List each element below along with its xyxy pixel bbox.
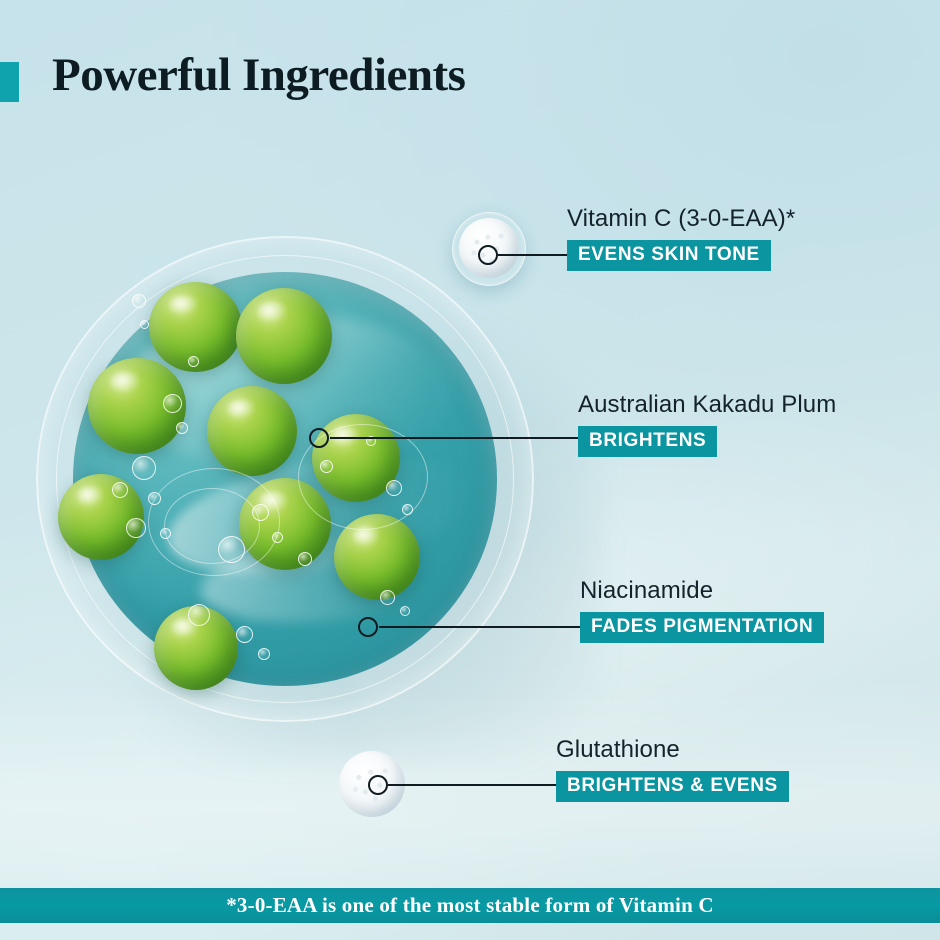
water-bubble bbox=[188, 604, 210, 626]
callout-vitamin-c: Vitamin C (3-0-EAA)* EVENS SKIN TONE bbox=[567, 205, 795, 271]
callout-glutathione: Glutathione BRIGHTENS & EVENS bbox=[556, 736, 789, 802]
leader-line-niacinamide bbox=[379, 626, 582, 628]
marker-kakadu-plum[interactable] bbox=[309, 428, 329, 448]
ingredient-name: Niacinamide bbox=[580, 577, 824, 605]
leader-line-glutathione bbox=[388, 784, 558, 786]
water-bubble bbox=[188, 356, 199, 367]
footer-banner: *3-0-EAA is one of the most stable form … bbox=[0, 888, 940, 923]
grape bbox=[236, 288, 332, 384]
petri-dish bbox=[36, 236, 534, 722]
leader-line-kakadu-plum bbox=[330, 437, 580, 439]
water-bubble bbox=[298, 552, 312, 566]
grape bbox=[58, 474, 144, 560]
water-bubble bbox=[380, 590, 395, 605]
water-ripple bbox=[164, 488, 260, 564]
ingredients-infographic: Powerful Ingredients bbox=[0, 0, 940, 940]
ingredient-name: Vitamin C (3-0-EAA)* bbox=[567, 205, 795, 233]
water-bubble bbox=[258, 648, 270, 660]
title-accent-square bbox=[0, 62, 19, 102]
ingredient-benefit-badge: EVENS SKIN TONE bbox=[567, 240, 771, 271]
water-bubble bbox=[236, 626, 253, 643]
grape bbox=[207, 386, 297, 476]
water-bubble bbox=[126, 518, 146, 538]
ingredient-benefit-badge: FADES PIGMENTATION bbox=[580, 612, 824, 643]
marker-glutathione[interactable] bbox=[368, 775, 388, 795]
water-bubble bbox=[400, 606, 410, 616]
page-title: Powerful Ingredients bbox=[52, 48, 465, 102]
water-bubble bbox=[176, 422, 188, 434]
water-bubble bbox=[112, 482, 128, 498]
footer-note: *3-0-EAA is one of the most stable form … bbox=[226, 893, 714, 918]
callout-kakadu-plum: Australian Kakadu Plum BRIGHTENS bbox=[578, 391, 836, 457]
water-bubble bbox=[140, 320, 149, 329]
leader-line-vitamin-c bbox=[498, 254, 570, 256]
marker-vitamin-c[interactable] bbox=[478, 245, 498, 265]
water-bubble bbox=[132, 294, 146, 308]
ingredient-name: Glutathione bbox=[556, 736, 789, 764]
water-bubble bbox=[132, 456, 156, 480]
ingredient-benefit-badge: BRIGHTENS & EVENS bbox=[556, 771, 789, 802]
water-bubble bbox=[163, 394, 182, 413]
ingredient-name: Australian Kakadu Plum bbox=[578, 391, 836, 419]
ingredient-benefit-badge: BRIGHTENS bbox=[578, 426, 717, 457]
marker-niacinamide[interactable] bbox=[358, 617, 378, 637]
callout-niacinamide: Niacinamide FADES PIGMENTATION bbox=[580, 577, 824, 643]
